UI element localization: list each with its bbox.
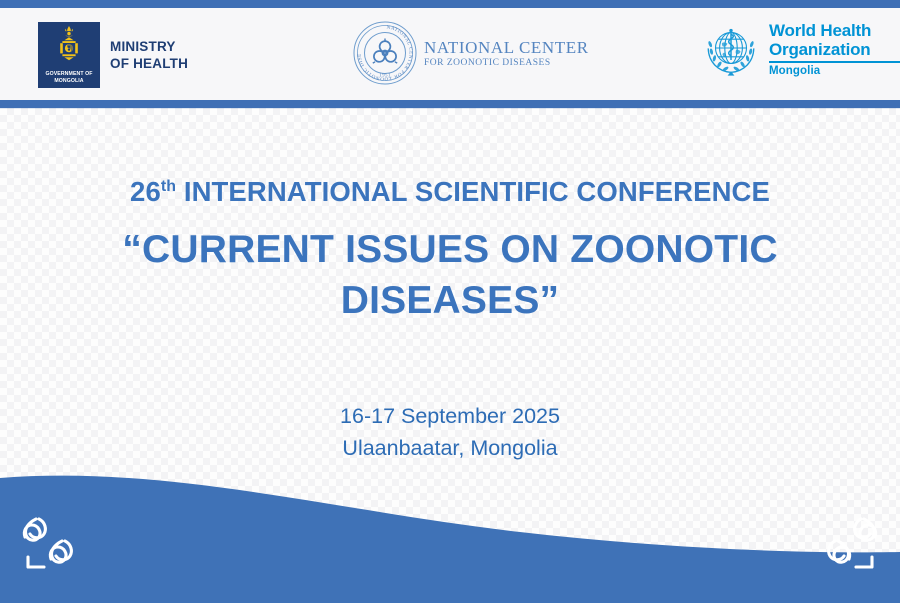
crest-caption-line-1: GOVERNMENT OF bbox=[38, 71, 100, 78]
ministry-of-health-logo: GOVERNMENT OF MONGOLIA MINISTRY OF HEALT… bbox=[38, 22, 188, 88]
nczd-name: NATIONAL CENTER bbox=[424, 38, 589, 57]
conference-number: 26 bbox=[130, 176, 161, 207]
slide-content: 26th INTERNATIONAL SCIENTIFIC CONFERENCE… bbox=[0, 109, 900, 464]
national-center-zoonotic-diseases-logo: NATIONAL CENTER FOR ZOONOTIC DISEASES 19… bbox=[352, 20, 589, 86]
nczd-label: NATIONAL CENTER FOR ZOONOTIC DISEASES bbox=[424, 38, 589, 69]
conference-title-line-2: DISEASES” bbox=[55, 275, 845, 326]
crest-caption-line-2: MONGOLIA bbox=[38, 78, 100, 85]
mongolian-knot-ornament-left-icon bbox=[14, 513, 86, 575]
top-accent-bar bbox=[0, 0, 900, 8]
ministry-of-health-label: MINISTRY OF HEALTH bbox=[110, 38, 188, 72]
who-country-label: Mongolia bbox=[769, 65, 900, 77]
nczd-seal-icon: NATIONAL CENTER FOR ZOONOTIC DISEASES 19… bbox=[352, 20, 418, 86]
svg-text:1951: 1951 bbox=[379, 74, 391, 79]
mongolian-knot-ornament-right-icon bbox=[814, 513, 886, 575]
conference-date: 16-17 September 2025 bbox=[0, 400, 900, 432]
ministry-name-line-1: MINISTRY bbox=[110, 38, 188, 55]
nczd-subtitle: FOR ZOONOTIC DISEASES bbox=[424, 57, 589, 69]
conference-title-line-1: “CURRENT ISSUES ON ZOONOTIC bbox=[55, 224, 845, 275]
who-name-line-2: Organization bbox=[769, 41, 900, 60]
conference-edition-text: INTERNATIONAL SCIENTIFIC CONFERENCE bbox=[176, 176, 770, 207]
mongolia-coat-of-arms-icon: GOVERNMENT OF MONGOLIA bbox=[38, 22, 100, 88]
conference-title: “CURRENT ISSUES ON ZOONOTIC DISEASES” bbox=[0, 224, 900, 326]
conference-location: Ulaanbaatar, Mongolia bbox=[0, 432, 900, 464]
conference-edition-line: 26th INTERNATIONAL SCIENTIFIC CONFERENCE bbox=[0, 176, 900, 208]
conference-ordinal-suffix: th bbox=[161, 178, 176, 195]
bottom-wave-decoration bbox=[0, 468, 900, 603]
conference-title-slide: GOVERNMENT OF MONGOLIA MINISTRY OF HEALT… bbox=[0, 0, 900, 603]
who-name-line-1: World Health bbox=[769, 22, 900, 41]
who-underline-divider bbox=[769, 61, 900, 63]
who-label: World Health Organization Mongolia bbox=[769, 20, 900, 77]
ministry-name-line-2: OF HEALTH bbox=[110, 55, 188, 72]
coat-of-arms-caption: GOVERNMENT OF MONGOLIA bbox=[38, 71, 100, 85]
conference-details: 16-17 September 2025 Ulaanbaatar, Mongol… bbox=[0, 400, 900, 464]
who-mongolia-logo: World Health Organization Mongolia bbox=[700, 20, 900, 82]
who-emblem-icon bbox=[700, 20, 762, 82]
